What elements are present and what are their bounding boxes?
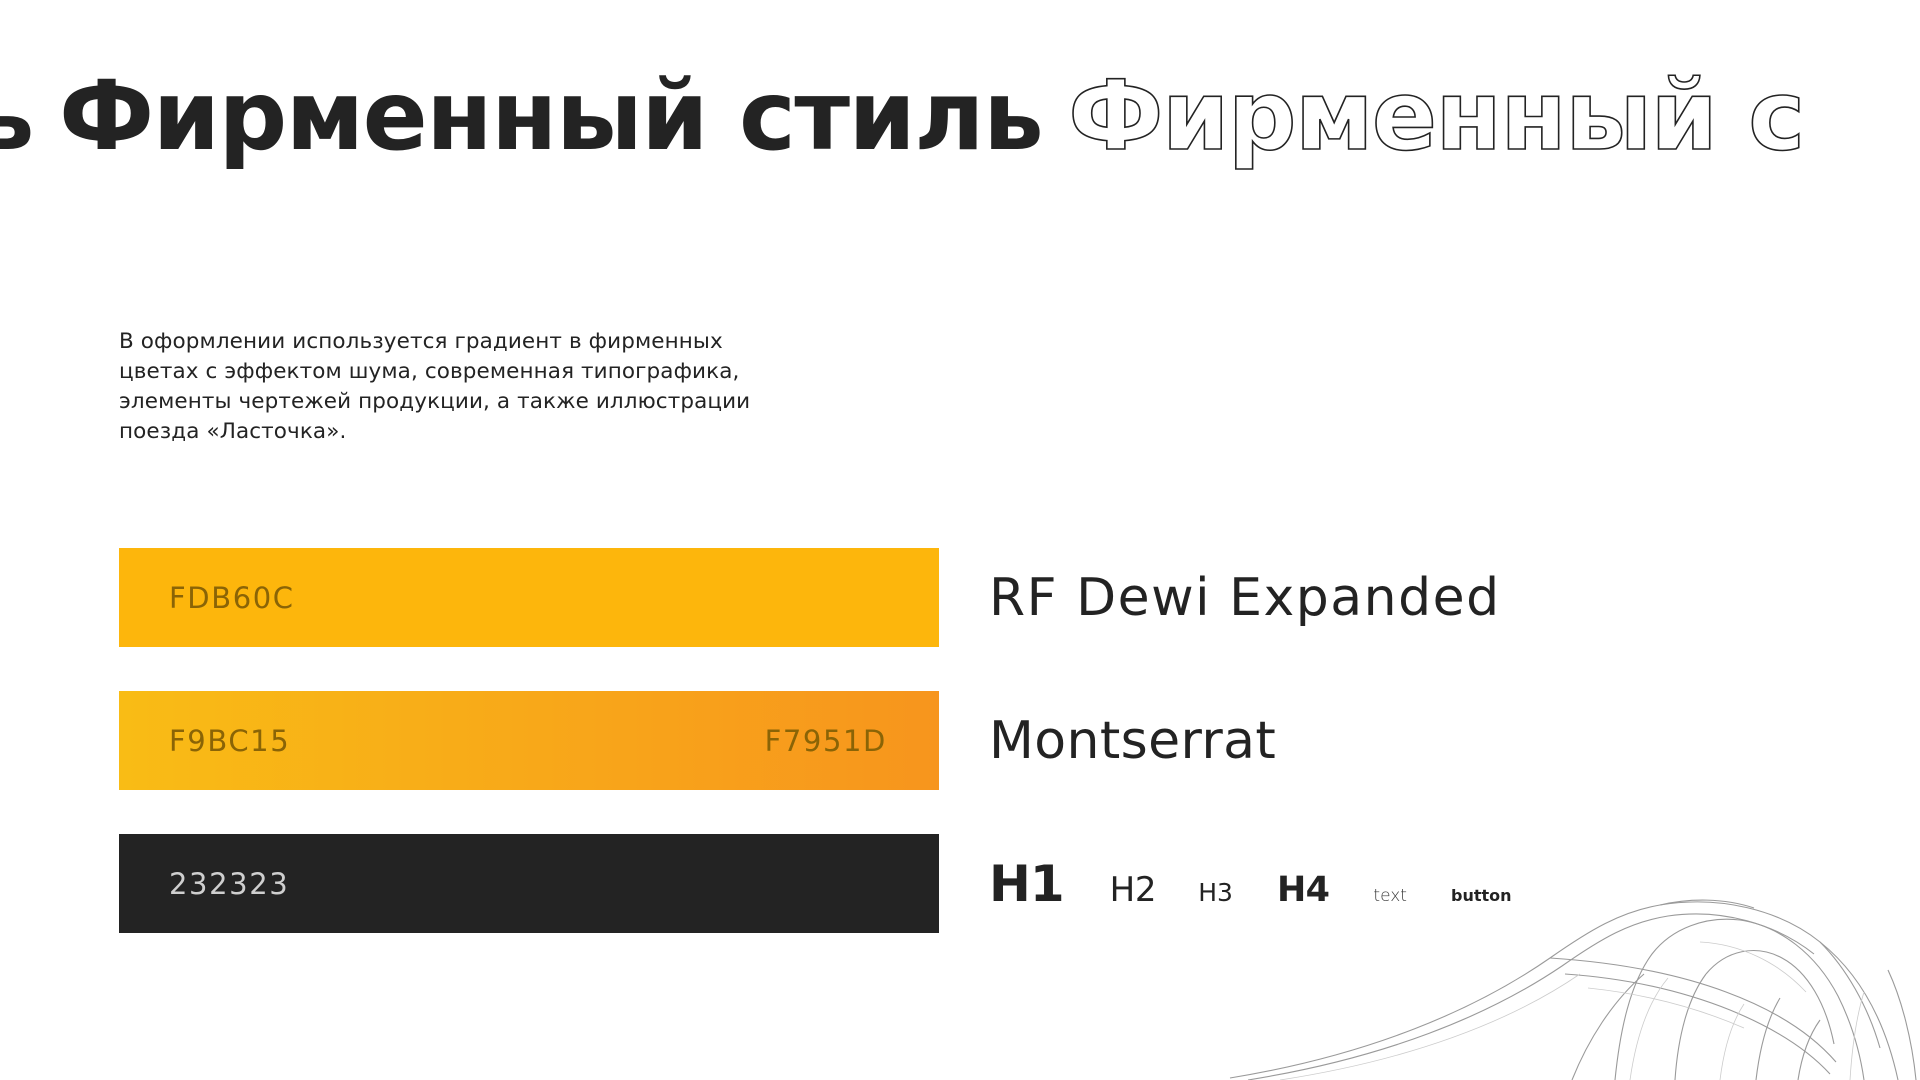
typography-secondary-font-row: Montserrat — [989, 691, 1789, 790]
marquee-word-outline: Фирменный с — [1068, 68, 1803, 164]
description-line-3: элементы чертежей продукции, а также илл… — [119, 387, 889, 417]
type-scale-text: text — [1373, 886, 1407, 906]
typography-scale-row: H1 H2 H3 H4 text button — [989, 834, 1789, 933]
type-scale-h2: H2 — [1110, 870, 1157, 910]
typography-scale-list: H1 H2 H3 H4 text button — [989, 855, 1512, 913]
swatch-hex-label-start: F9BC15 — [169, 724, 290, 758]
type-scale-h1: H1 — [989, 855, 1064, 913]
type-scale-h4: H4 — [1277, 870, 1329, 910]
description-line-2: цветах с эффектом шума, современная типо… — [119, 357, 889, 387]
marquee-word-solid: Фирменный стиль — [59, 68, 1042, 164]
swatch-hex-label-end: F7951D — [765, 724, 887, 758]
swatch-hex-label: FDB60C — [169, 581, 295, 615]
color-palette: FDB60C F9BC15 F7951D 232323 — [119, 548, 939, 933]
marquee-title-band: ль Фирменный стиль Фирменный с — [0, 56, 1920, 176]
typography-primary-font-row: RF Dewi Expanded — [989, 548, 1789, 647]
description-line-4: поезда «Ласточка». — [119, 417, 889, 447]
color-swatch-primary-yellow: FDB60C — [119, 548, 939, 647]
description-block: В оформлении используется градиент в фир… — [119, 327, 889, 447]
marquee-inner: ль Фирменный стиль Фирменный с — [0, 68, 1804, 164]
color-swatch-brand-gradient: F9BC15 F7951D — [119, 691, 939, 790]
marquee-word-partial-left: ль — [0, 68, 33, 164]
type-scale-button: button — [1451, 886, 1512, 905]
secondary-font-name: Montserrat — [989, 711, 1276, 771]
primary-font-name: RF Dewi Expanded — [989, 568, 1501, 628]
type-scale-h3: H3 — [1198, 878, 1233, 907]
color-swatch-dark-graphite: 232323 — [119, 834, 939, 933]
description-line-1: В оформлении используется градиент в фир… — [119, 327, 889, 357]
typography-block: RF Dewi Expanded Montserrat H1 H2 H3 H4 … — [989, 548, 1789, 933]
swatch-hex-label: 232323 — [169, 867, 289, 901]
